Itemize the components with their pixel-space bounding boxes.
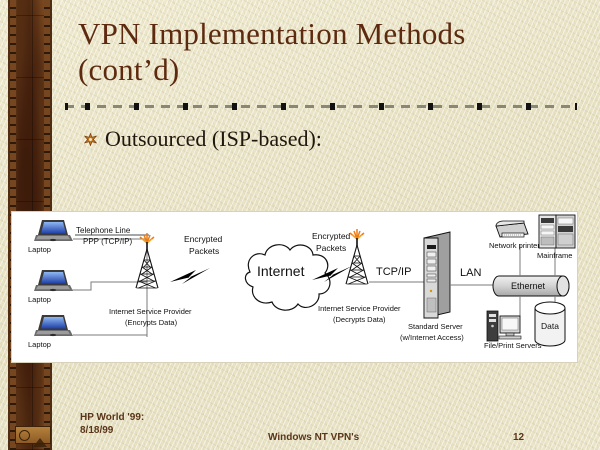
label-isp-right: Internet Service Provider (Decrypts Data… — [318, 304, 401, 324]
label-encrypted-packets-right: Encrypted Packets — [312, 231, 351, 253]
network-printer — [496, 221, 528, 237]
svg-text:Standard Server: Standard Server — [408, 322, 463, 331]
client-laptop-3: Laptop — [28, 315, 73, 349]
svg-text:PPP (TCP/IP): PPP (TCP/IP) — [83, 237, 133, 246]
footer-event: HP World '99: — [80, 411, 144, 424]
label-mainframe: Mainframe — [537, 251, 572, 260]
network-topology-diagram: Laptop Laptop Laptop Telephone Line — [11, 211, 578, 363]
footer-deck-title: Windows NT VPN's — [268, 432, 359, 443]
internet-cloud: Internet — [245, 245, 330, 310]
svg-text:Laptop: Laptop — [28, 245, 51, 254]
label-data: Data — [541, 321, 559, 331]
footer-date: 8/18/99 — [80, 424, 144, 437]
svg-text:(w/Internet Access): (w/Internet Access) — [400, 333, 464, 342]
page-title: VPN Implementation Methods (cont’d) — [78, 16, 578, 88]
star-bullet-icon — [84, 133, 97, 146]
decorative-emblem-icon — [15, 426, 51, 444]
svg-text:Laptop: Laptop — [28, 340, 51, 349]
label-standard-server: Standard Server (w/Internet Access) — [400, 322, 464, 342]
svg-text:Encrypted: Encrypted — [312, 231, 351, 241]
ethernet-backbone: Ethernet — [493, 276, 569, 296]
svg-text:Packets: Packets — [316, 243, 346, 253]
bullet-item-outsourced: Outsourced (ISP-based): — [84, 126, 322, 152]
svg-text:Telephone Line: Telephone Line — [76, 226, 131, 235]
title-line-1: VPN Implementation Methods — [78, 16, 578, 52]
mainframe — [539, 215, 575, 248]
bullet-item-label: Outsourced (ISP-based): — [105, 126, 322, 152]
svg-text:Internet Service Provider: Internet Service Provider — [318, 304, 401, 313]
label-network-printer: Network printer — [489, 241, 540, 250]
svg-text:(Decrypts Data): (Decrypts Data) — [333, 315, 386, 324]
data-store: Data — [535, 302, 565, 346]
standard-server — [424, 232, 450, 318]
label-isp-left: Internet Service Provider (Encrypts Data… — [109, 307, 192, 327]
svg-text:Laptop: Laptop — [28, 295, 51, 304]
client-laptop-1: Laptop — [28, 220, 73, 254]
label-encrypted-packets-left: Encrypted Packets — [184, 234, 223, 256]
svg-text:(Encrypts Data): (Encrypts Data) — [125, 318, 178, 327]
slide-canvas: VPN Implementation Methods (cont’d) Outs… — [0, 0, 600, 450]
label-lan: LAN — [460, 267, 481, 279]
footer-page-number: 12 — [513, 432, 524, 443]
svg-text:Internet: Internet — [257, 263, 305, 279]
svg-text:Packets: Packets — [189, 246, 219, 256]
lightning-bolt-left — [170, 268, 210, 284]
title-line-2: (cont’d) — [78, 52, 578, 88]
label-ethernet: Ethernet — [511, 281, 546, 291]
svg-text:Internet Service Provider: Internet Service Provider — [109, 307, 192, 316]
label-telephone-line: Telephone Line PPP (TCP/IP) — [75, 226, 149, 246]
client-laptop-2: Laptop — [28, 270, 73, 304]
svg-text:Encrypted: Encrypted — [184, 234, 223, 244]
label-file-print-servers: File/Print Servers — [484, 341, 542, 350]
label-tcpip: TCP/IP — [376, 266, 411, 278]
title-divider — [65, 103, 577, 110]
divider-dots — [65, 103, 577, 110]
footer-left: HP World '99: 8/18/99 — [80, 411, 144, 437]
